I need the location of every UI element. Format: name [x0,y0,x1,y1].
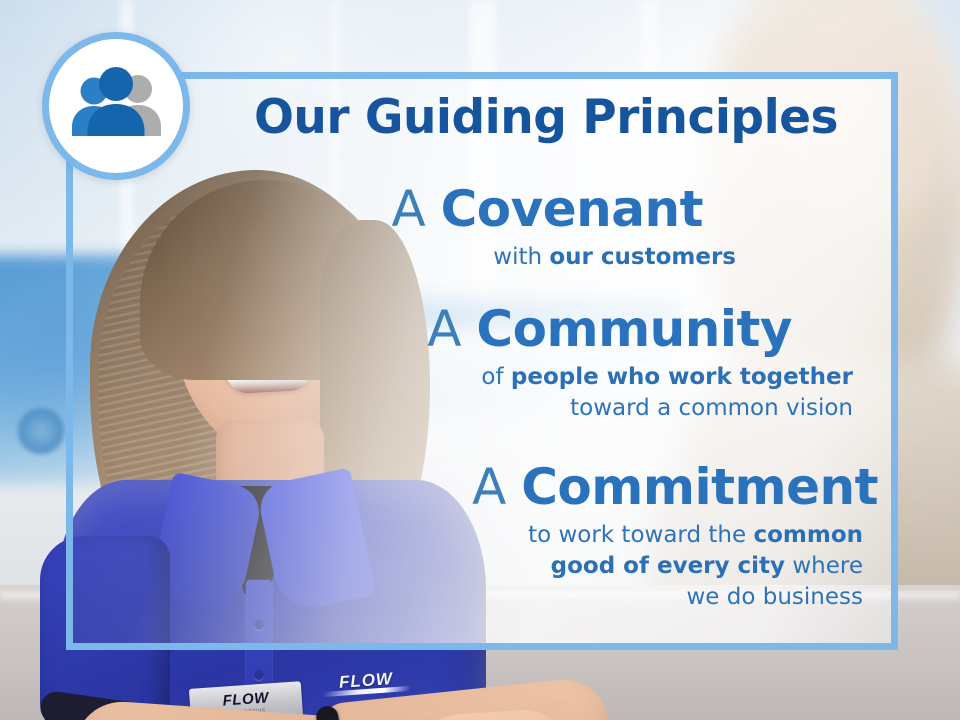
principle-block-commitment: A Commitment to work toward the common g… [66,462,878,612]
principle-subtext-line: with our customers [66,242,736,273]
subtext-segment-bold: good of every city [551,553,785,579]
principle-heading: A Commitment [66,462,878,513]
subtext-segment: we do business [687,584,864,610]
principle-article: A [427,300,461,358]
principle-subtext: with our customers [66,242,878,273]
subtext-segment: toward a common vision [570,395,853,421]
principle-subtext: to work toward the common good of every … [66,520,878,612]
page-title: Our Guiding Principles [216,94,876,143]
principle-block-community: A Community of people who work together … [66,304,878,424]
shirt-button [254,670,264,680]
principle-article: A [391,180,425,238]
principle-heading: A Community [66,304,878,355]
principles-content: Our Guiding Principles A Covenant with o… [66,72,898,650]
principle-subtext-line: to work toward the common [66,520,863,551]
subtext-segment-bold: our customers [549,244,736,270]
principle-keyword: Commitment [521,458,878,516]
principle-heading: A Covenant [66,184,878,235]
subtext-segment: with [493,244,549,270]
principle-block-covenant: A Covenant with our customers [66,184,878,273]
subtext-segment: where [785,553,863,579]
principle-subtext-line: of people who work together [66,362,853,393]
principle-subtext-line: we do business [66,582,863,613]
subtext-segment-bold: common [753,522,863,548]
principle-subtext: of people who work together toward a com… [66,362,878,424]
subtext-segment: of [481,364,510,390]
poster-canvas: FLOW AUTOMOTIVE FLOW [0,0,960,720]
subtext-segment-bold: people who work together [511,364,853,390]
principle-subtext-line: good of every city where [66,551,863,582]
principle-article: A [472,458,506,516]
principle-keyword: Covenant [441,180,703,238]
principle-keyword: Community [476,300,792,358]
subtext-segment: to work toward the [528,522,753,548]
name-badge-brand: FLOW [222,690,269,708]
principle-subtext-line: toward a common vision [66,393,853,424]
